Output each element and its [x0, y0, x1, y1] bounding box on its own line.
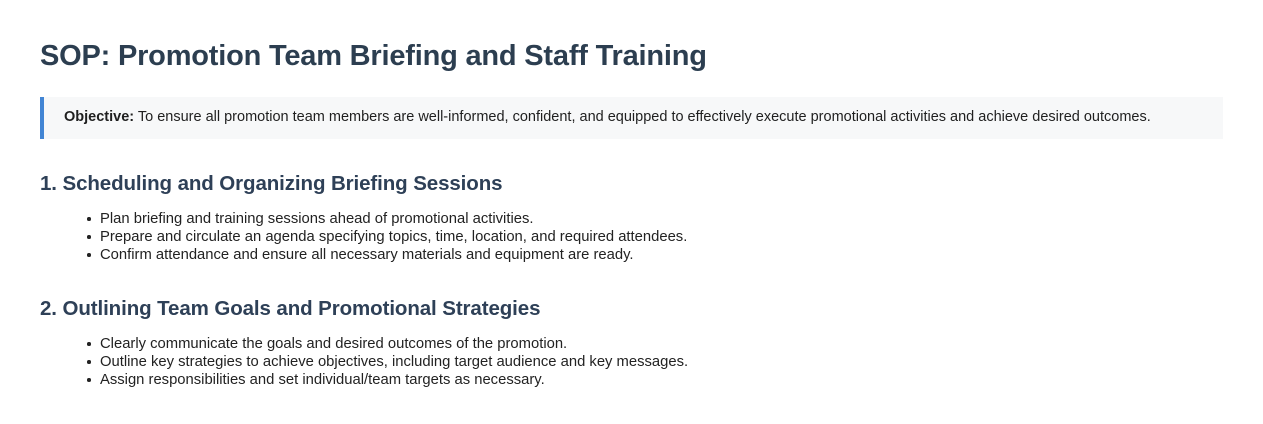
bullet-dot-icon — [87, 253, 91, 257]
section-2-bullet-list: Clearly communicate the goals and desire… — [40, 322, 1223, 389]
list-item-label: Prepare and circulate an agenda specifyi… — [100, 229, 687, 245]
list-item: Plan briefing and training sessions ahea… — [40, 210, 1223, 228]
bullet-dot-icon — [87, 217, 91, 221]
bullet-dot-icon — [87, 360, 91, 364]
section-2: 2. Outlining Team Goals and Promotional … — [40, 264, 1223, 389]
section-heading-1: 1. Scheduling and Organizing Briefing Se… — [40, 139, 1223, 197]
list-item: Assign responsibilities and set individu… — [40, 371, 1223, 389]
section-heading-2: 2. Outlining Team Goals and Promotional … — [40, 264, 1223, 322]
bullet-dot-icon — [87, 342, 91, 346]
section-1-bullet-list: Plan briefing and training sessions ahea… — [40, 197, 1223, 264]
list-item: Confirm attendance and ensure all necess… — [40, 246, 1223, 264]
document-page: SOP: Promotion Team Briefing and Staff T… — [0, 0, 1263, 389]
list-item: Clearly communicate the goals and desire… — [40, 335, 1223, 353]
list-item-label: Clearly communicate the goals and desire… — [100, 336, 567, 352]
list-item-label: Confirm attendance and ensure all necess… — [100, 247, 634, 263]
list-item-label: Plan briefing and training sessions ahea… — [100, 211, 533, 227]
section-1: 1. Scheduling and Organizing Briefing Se… — [40, 139, 1223, 264]
list-item-label: Assign responsibilities and set individu… — [100, 372, 545, 388]
objective-label: Objective: — [64, 109, 134, 125]
objective-callout: Objective: To ensure all promotion team … — [40, 97, 1223, 139]
page-title: SOP: Promotion Team Briefing and Staff T… — [40, 0, 1223, 76]
bullet-dot-icon — [87, 378, 91, 382]
list-item-label: Outline key strategies to achieve object… — [100, 354, 688, 370]
objective-text: To ensure all promotion team members are… — [134, 109, 1151, 125]
bullet-dot-icon — [87, 235, 91, 239]
list-item: Outline key strategies to achieve object… — [40, 353, 1223, 371]
list-item: Prepare and circulate an agenda specifyi… — [40, 228, 1223, 246]
